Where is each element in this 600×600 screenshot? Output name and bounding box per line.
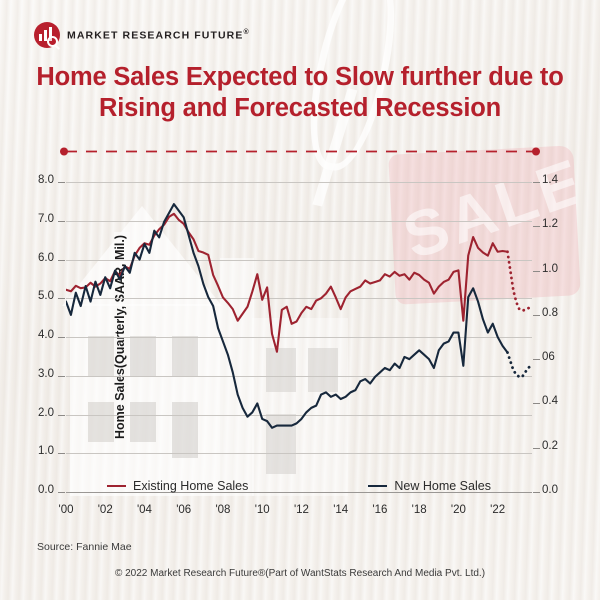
y-axis-tick-right: 0.0 — [542, 484, 582, 496]
y-axis-tickmark-left — [58, 415, 65, 416]
y-axis-tickmark-right — [533, 403, 540, 404]
y-axis-tick-left: 3.0 — [14, 368, 54, 380]
x-axis-tick: '02 — [98, 504, 113, 516]
series-line — [507, 252, 531, 311]
y-axis-tickmark-right — [533, 226, 540, 227]
chart-legend: Existing Home Sales New Home Sales — [66, 479, 532, 493]
series-line — [66, 214, 507, 352]
y-axis-tick-left: 6.0 — [14, 252, 54, 264]
title-divider — [60, 147, 540, 156]
series-canvas — [66, 182, 532, 492]
registered-mark: ® — [243, 29, 249, 36]
y-axis-tickmark-right — [533, 271, 540, 272]
legend-label-existing: Existing Home Sales — [133, 479, 248, 493]
copyright-note: © 2022 Market Research Future®(Part of W… — [0, 568, 600, 579]
y-axis-tickmark-right — [533, 182, 540, 183]
x-axis-tick: '06 — [176, 504, 191, 516]
page-title: Home Sales Expected to Slow further due … — [0, 62, 600, 124]
y-axis-tickmark-left — [58, 221, 65, 222]
y-axis-tick-right: 06 — [542, 351, 582, 363]
series-line — [66, 204, 507, 428]
brand-logo: MARKET RESEARCH FUTURE® — [34, 22, 250, 48]
y-axis-tick-right: 0.8 — [542, 307, 582, 319]
legend-swatch-new — [368, 485, 387, 488]
y-axis-tick-left: 8.0 — [14, 174, 54, 186]
y-axis-tick-left: 7.0 — [14, 213, 54, 225]
x-axis-tick: '16 — [372, 504, 387, 516]
y-axis-tick-left: 4.0 — [14, 329, 54, 341]
brand-name-text: MARKET RESEARCH FUTURE — [67, 29, 243, 41]
y-axis-tick-left: 5.0 — [14, 290, 54, 302]
x-axis-tick: '04 — [137, 504, 152, 516]
source-note: Source: Fannie Mae — [37, 541, 132, 553]
legend-swatch-existing — [107, 485, 126, 488]
x-axis-tick: '00 — [59, 504, 74, 516]
y-axis-tickmark-right — [533, 315, 540, 316]
brand-name: MARKET RESEARCH FUTURE® — [67, 29, 250, 42]
y-axis-tickmark-left — [58, 492, 65, 493]
x-axis-tick: '18 — [412, 504, 427, 516]
x-axis-tick: '12 — [294, 504, 309, 516]
x-axis-tick: '22 — [490, 504, 505, 516]
y-axis-tick-right: 1.4 — [542, 174, 582, 186]
plot-area: 0.01.02.03.04.05.06.07.08.00.00.20.4060.… — [66, 182, 532, 492]
home-sales-chart: Home Sales(Quarterly, SAAR, Mil.) 0.01.0… — [66, 182, 532, 492]
y-axis-tick-right: 0.2 — [542, 440, 582, 452]
y-axis-tickmark-left — [58, 182, 65, 183]
y-axis-tick-left: 1.0 — [14, 445, 54, 457]
x-axis-tick: '08 — [215, 504, 230, 516]
y-axis-tick-right: 1.0 — [542, 263, 582, 275]
title-line-2: Rising and Forecasted Recession — [0, 93, 600, 124]
bar-chart-magnifier-icon — [34, 22, 60, 48]
legend-label-new: New Home Sales — [394, 479, 491, 493]
y-axis-tickmark-left — [58, 298, 65, 299]
y-axis-tickmark-right — [533, 448, 540, 449]
y-axis-tick-left: 2.0 — [14, 407, 54, 419]
x-axis-tick: '20 — [451, 504, 466, 516]
y-axis-tickmark-left — [58, 337, 65, 338]
y-axis-tick-left: 0.0 — [14, 484, 54, 496]
y-axis-tickmark-left — [58, 376, 65, 377]
series-line — [507, 353, 531, 377]
y-axis-tick-right: 0.4 — [542, 395, 582, 407]
title-line-1: Home Sales Expected to Slow further due … — [0, 62, 600, 93]
y-axis-tickmark-left — [58, 453, 65, 454]
y-axis-tickmark-right — [533, 359, 540, 360]
x-axis-tick: '14 — [333, 504, 348, 516]
legend-item-existing: Existing Home Sales — [107, 479, 248, 493]
y-axis-tickmark-right — [533, 492, 540, 493]
y-axis-tick-right: 1.2 — [542, 218, 582, 230]
y-axis-tickmark-left — [58, 260, 65, 261]
legend-item-new: New Home Sales — [368, 479, 491, 493]
x-axis-tick: '10 — [255, 504, 270, 516]
